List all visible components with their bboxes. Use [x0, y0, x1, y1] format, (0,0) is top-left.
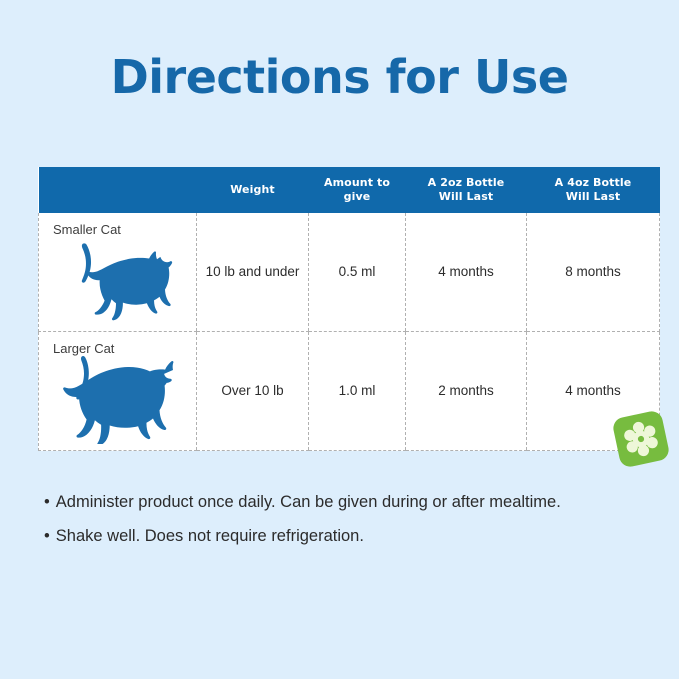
flower-glyph	[620, 418, 663, 461]
large-cat-silhouette-icon	[53, 352, 203, 438]
list-item: •Administer product once daily. Can be g…	[44, 492, 644, 513]
header-4oz-line2: Will Last	[529, 190, 658, 204]
cell-bottle-4oz-smaller: 8 months	[527, 213, 660, 332]
cell-amount-larger: 1.0 ml	[309, 331, 406, 450]
table-row: Larger Cat Over 10 lb	[39, 331, 660, 450]
value-4oz-smaller: 8 months	[565, 264, 621, 279]
cell-weight-smaller: 10 lb and under	[197, 213, 309, 332]
table-header: Weight Amount to give A 2oz Bottle Will …	[39, 167, 660, 213]
note-text-1: Administer product once daily. Can be gi…	[56, 493, 561, 511]
directions-for-use-page: Directions for Use Weight Amount to give…	[0, 0, 679, 679]
header-cell-bottle-4oz: A 4oz Bottle Will Last	[527, 167, 660, 213]
value-amount-smaller: 0.5 ml	[339, 264, 376, 279]
cell-bottle-2oz-smaller: 4 months	[406, 213, 527, 332]
header-cell-weight: Weight	[197, 167, 309, 213]
header-2oz-line1: A 2oz Bottle	[408, 176, 525, 190]
value-2oz-larger: 2 months	[438, 383, 494, 398]
list-item: •Shake well. Does not require refrigerat…	[44, 526, 644, 547]
header-cell-amount: Amount to give	[309, 167, 406, 213]
table-row: Smaller Cat 10 lb and under	[39, 213, 660, 332]
dosing-table-container: Weight Amount to give A 2oz Bottle Will …	[38, 167, 639, 437]
bullet-icon: •	[44, 526, 50, 547]
bullet-icon: •	[44, 492, 50, 513]
header-cell-cat-type	[39, 167, 197, 213]
value-2oz-smaller: 4 months	[438, 264, 494, 279]
cell-amount-smaller: 0.5 ml	[309, 213, 406, 332]
table-body: Smaller Cat 10 lb and under	[39, 213, 660, 451]
cell-weight-larger: Over 10 lb	[197, 331, 309, 450]
instruction-notes: •Administer product once daily. Can be g…	[44, 492, 644, 559]
table-header-row: Weight Amount to give A 2oz Bottle Will …	[39, 167, 660, 213]
value-weight-smaller: 10 lb and under	[206, 264, 300, 279]
flower-logo-icon	[607, 405, 676, 474]
row-label-smaller-cat: Smaller Cat	[53, 222, 121, 237]
page-title: Directions for Use	[0, 52, 679, 103]
header-cell-bottle-2oz: A 2oz Bottle Will Last	[406, 167, 527, 213]
cell-bottle-2oz-larger: 2 months	[406, 331, 527, 450]
cell-cat-type-larger: Larger Cat	[39, 331, 197, 450]
header-2oz-line2: Will Last	[408, 190, 525, 204]
small-cat-silhouette-icon	[61, 237, 211, 323]
value-amount-larger: 1.0 ml	[339, 383, 376, 398]
value-4oz-larger: 4 months	[565, 383, 621, 398]
header-weight-line1: Weight	[199, 183, 307, 197]
value-weight-larger: Over 10 lb	[221, 383, 283, 398]
cell-cat-type-smaller: Smaller Cat	[39, 213, 197, 332]
dosing-table: Weight Amount to give A 2oz Bottle Will …	[38, 167, 660, 451]
header-amount-line1: Amount to give	[311, 176, 404, 204]
header-4oz-line1: A 4oz Bottle	[529, 176, 658, 190]
note-text-2: Shake well. Does not require refrigerati…	[56, 527, 364, 545]
